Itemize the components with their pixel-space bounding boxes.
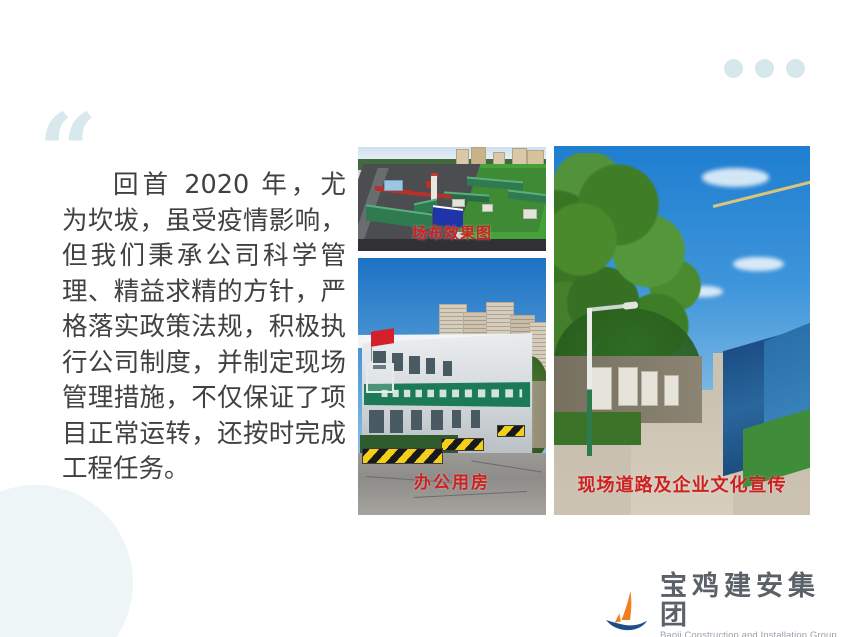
photo-site-layout[interactable]: 场布效果图: [358, 147, 546, 251]
dot-icon: [755, 59, 774, 78]
sailboat-logo-icon: [604, 589, 648, 635]
logo-text-block: 宝鸡建安集团 Baoji Construction and Installati…: [660, 572, 850, 637]
quote-paragraph: 回首 2020 年，尤为坎坺，虽受疫情影响，但我们秉承公司科学管理、精益求精的方…: [62, 168, 346, 488]
dot-icon: [786, 59, 805, 78]
company-logo: 宝鸡建安集团 Baoji Construction and Installati…: [604, 572, 850, 637]
photo-caption: 场布效果图: [358, 222, 546, 243]
presentation-slide: “ 回首 2020 年，尤为坎坺，虽受疫情影响，但我们秉承公司科学管理、精益求精…: [0, 0, 850, 637]
dots-decoration: [724, 59, 805, 78]
dot-icon: [724, 59, 743, 78]
logo-name-cn: 宝鸡建安集团: [660, 572, 850, 630]
corner-circle-decoration: [0, 485, 133, 637]
photo-caption: 现场道路及企业文化宣传: [554, 471, 810, 497]
photo-site-road[interactable]: 现场道路及企业文化宣传: [554, 146, 810, 515]
photo-office-building[interactable]: 办公用房: [358, 258, 546, 515]
logo-name-en: Baoji Construction and Installation Grou…: [660, 631, 850, 637]
photo-caption: 办公用房: [358, 468, 546, 493]
site-road-illustration: [554, 146, 810, 515]
